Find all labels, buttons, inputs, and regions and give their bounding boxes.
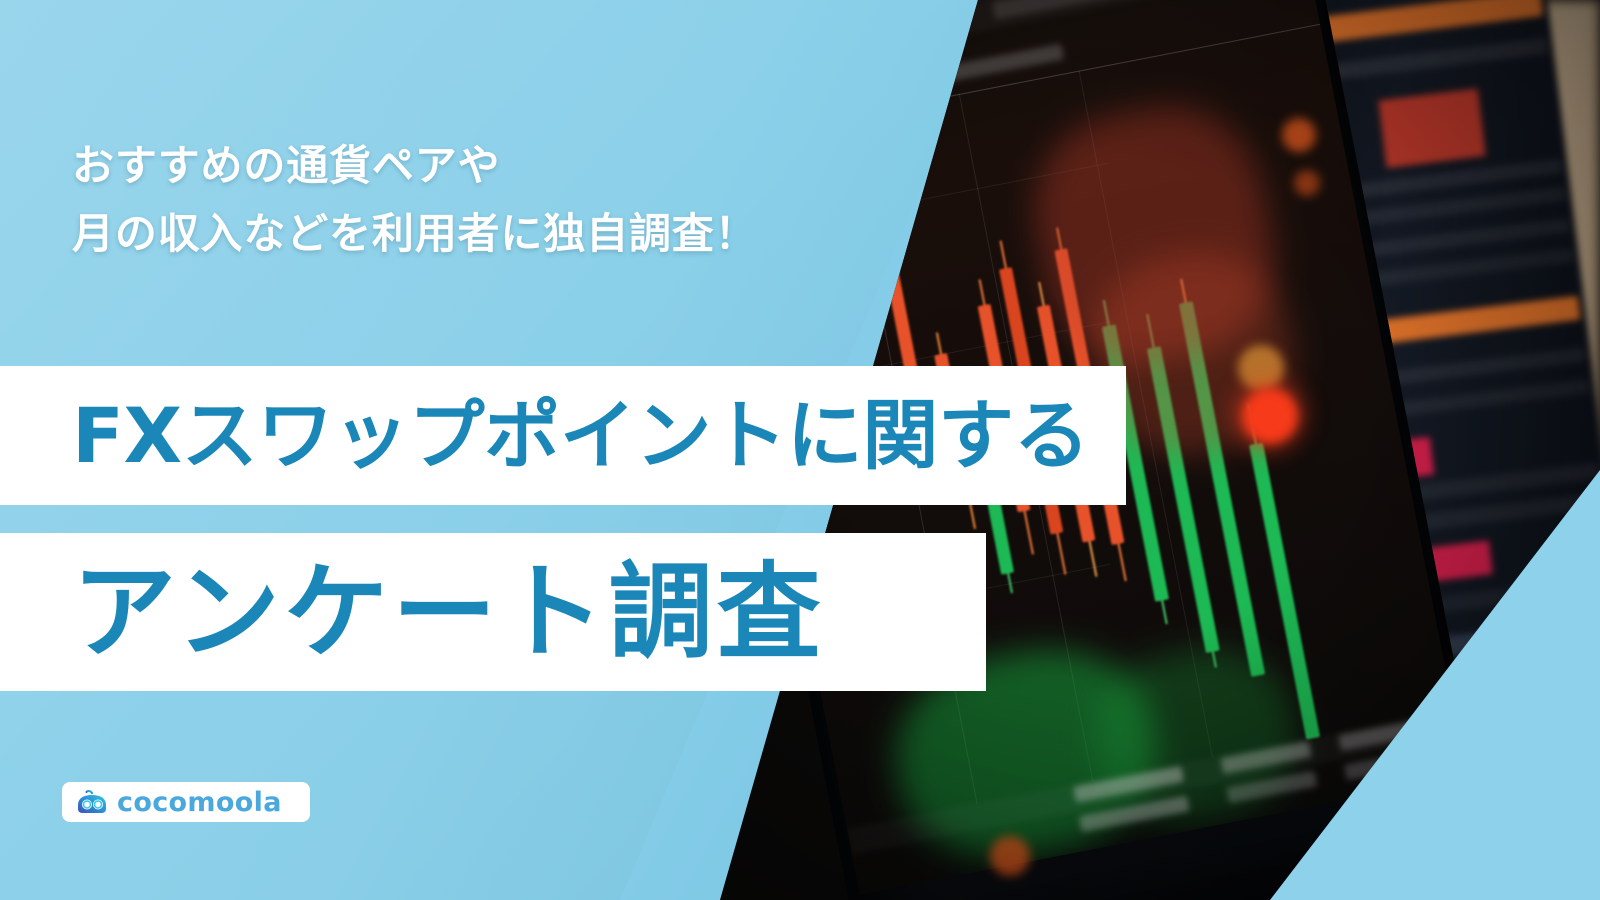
bokeh-orange-bottom	[990, 836, 1030, 876]
title-line-2: アンケート調査	[72, 560, 825, 664]
title-band-secondary: アンケート調査	[0, 533, 986, 691]
banner-canvas: おすすめの通貨ペアや 月の収入などを利用者に独自調査！ FXスワップポイントに関…	[0, 0, 1600, 900]
title-band-primary: FXスワップポイントに関する	[0, 366, 1126, 505]
bokeh-red	[1242, 388, 1298, 444]
bokeh-amber	[1238, 345, 1284, 391]
bokeh-orange-small-2	[1294, 170, 1320, 196]
title-line-1: FXスワップポイントに関する	[72, 398, 1089, 474]
bokeh-orange-small	[1282, 118, 1316, 152]
subtitle: おすすめの通貨ペアや 月の収入などを利用者に独自調査！	[72, 132, 932, 268]
cocomoola-robot-icon	[76, 790, 108, 814]
logo[interactable]: cocomoola	[62, 782, 310, 822]
logo-text: cocomoola	[117, 789, 282, 816]
